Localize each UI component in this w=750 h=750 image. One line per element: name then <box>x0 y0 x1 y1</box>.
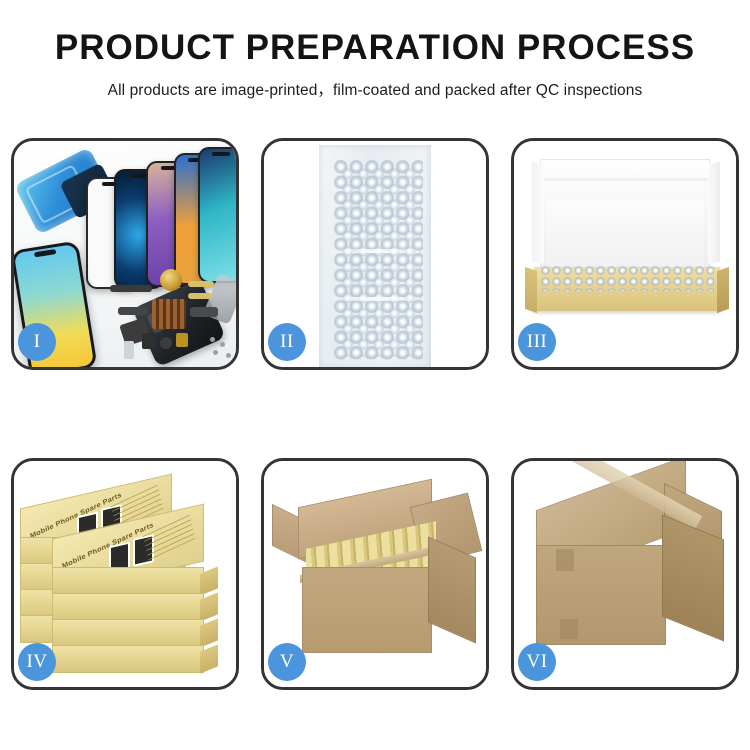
step-badge-1: I <box>18 323 56 361</box>
pouch-seam-2 <box>331 297 423 301</box>
carton-handle-cutout-2 <box>560 619 578 639</box>
process-step-grid: I II III <box>11 138 739 690</box>
carton-handle-cutout-1 <box>556 549 574 571</box>
step-badge-5: V <box>268 643 306 681</box>
white-box-lid-right-flap <box>708 162 720 265</box>
step-card-2[interactable]: II <box>261 138 489 370</box>
chip-grid-icon <box>152 299 186 329</box>
bubble-wrapped-contents <box>540 265 714 291</box>
kraft-box-tray <box>534 267 720 311</box>
battery-part-icon <box>124 341 134 359</box>
speaker-coil-icon <box>160 269 182 291</box>
step-badge-4: IV <box>18 643 56 681</box>
phone-icon-teal <box>198 147 236 283</box>
box-stack: Mobile Phone Spare Parts Mobile Phone Sp… <box>20 475 230 675</box>
page-header: PRODUCT PREPARATION PROCESS All products… <box>0 0 750 100</box>
camera-module-icon <box>142 333 156 349</box>
retail-box-front-4 <box>52 645 204 673</box>
retail-box-front-1 <box>52 567 204 595</box>
bubble-pattern-highlight <box>340 166 421 359</box>
step-badge-3: III <box>518 323 556 361</box>
step-badge-6: VI <box>518 643 556 681</box>
step-card-6[interactable]: VI <box>511 458 739 690</box>
step-card-3[interactable]: III <box>511 138 739 370</box>
foam-insert <box>546 199 704 271</box>
connector-part-icon <box>176 333 188 347</box>
carton-front-face <box>302 567 432 653</box>
step-card-5[interactable]: V <box>261 458 489 690</box>
flex-cable-icon-1 <box>110 285 152 292</box>
flex-cable-icon-6 <box>190 307 218 317</box>
retail-box-front-3 <box>52 619 204 647</box>
pouch-seam-1 <box>331 249 423 253</box>
bubble-wrap-pouch <box>319 145 431 367</box>
flex-cable-icon-3 <box>188 293 212 299</box>
step-badge-2: II <box>268 323 306 361</box>
retail-box-front-2 <box>52 593 204 621</box>
screws-icon <box>210 337 234 359</box>
flex-cable-icon-2 <box>188 281 214 287</box>
step-card-1[interactable]: I <box>11 138 239 370</box>
step-card-4[interactable]: Mobile Phone Spare Parts Mobile Phone Sp… <box>11 458 239 690</box>
white-box-lid-left-flap <box>532 162 544 265</box>
button-part-icon <box>160 337 172 349</box>
flex-cable-icon-4 <box>118 307 148 315</box>
page-subtitle: All products are image-printed，film-coat… <box>0 78 750 100</box>
page-title: PRODUCT PREPARATION PROCESS <box>0 30 750 67</box>
